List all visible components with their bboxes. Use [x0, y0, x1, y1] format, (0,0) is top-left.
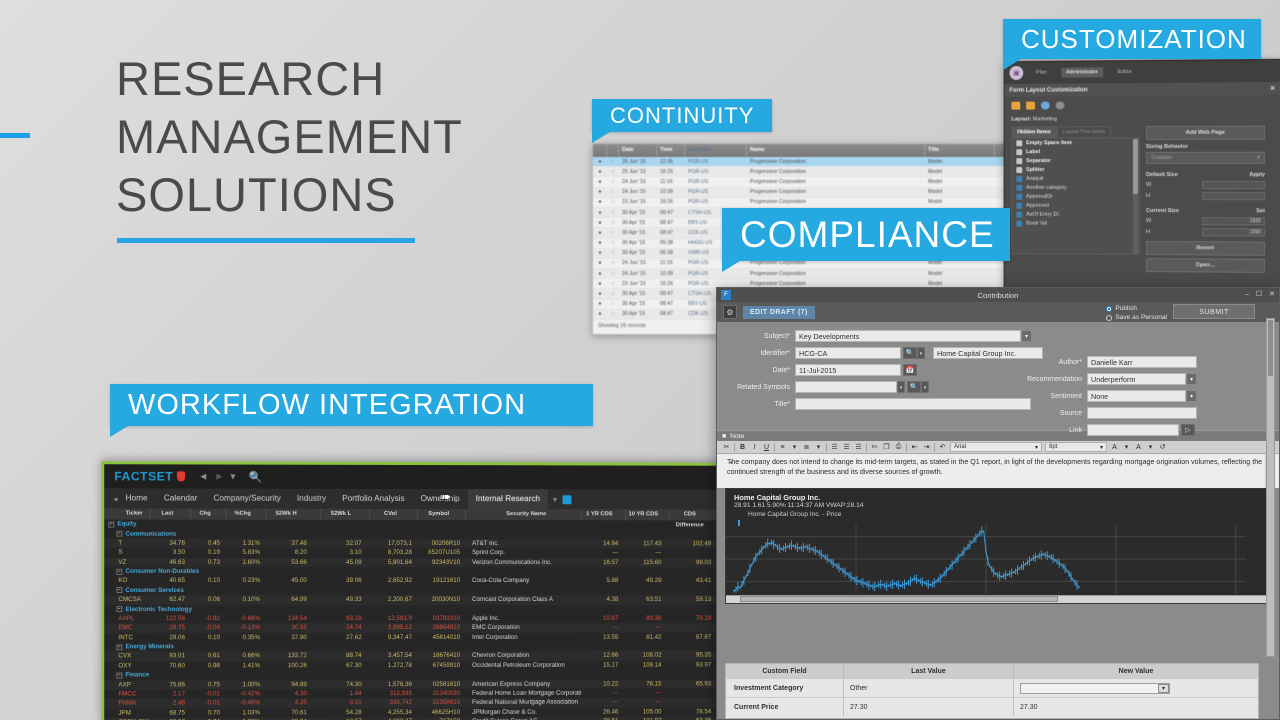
row-star-icon[interactable]: ☆	[607, 199, 619, 205]
table-row[interactable]: Investment Category Other ▾	[726, 678, 1258, 697]
row-star-icon[interactable]: ☆	[607, 250, 619, 256]
banner-continuity: CONTINUITY	[592, 99, 772, 132]
sizing-behavior-select[interactable]: Scalable ▾	[1146, 152, 1265, 164]
row-flag-icon[interactable]: ●	[593, 260, 607, 266]
row-flag-icon[interactable]: ●	[593, 271, 607, 277]
publish-options[interactable]: Publish Save as Personal	[1106, 304, 1167, 322]
table-row[interactable]: Current Price 27.30 27.30	[726, 697, 1258, 716]
cell-10yr-cds: ---	[626, 698, 669, 707]
cell-cds-difference: 102.49	[669, 539, 721, 548]
identifier-search-icon[interactable]: 🔍	[903, 347, 917, 359]
table-row[interactable]: ●☆25 Jun '1516:25PGR-USProgressive Corpo…	[593, 167, 1009, 177]
cell-52wk-low: 54.28	[321, 708, 370, 718]
cell-symbol: 46625H10	[418, 708, 466, 717]
row-flag-icon[interactable]: ●	[593, 169, 607, 175]
cell-symbol: 85207U105	[418, 548, 466, 557]
sentiment-label: Sentiment	[1005, 393, 1087, 400]
sector-group-label: Communications	[125, 530, 176, 537]
back-icon[interactable]: ◄	[198, 471, 208, 482]
default-height-field[interactable]	[1202, 192, 1265, 200]
cell-ticker: S	[104, 548, 151, 557]
font-family-select[interactable]: Arial ▾	[950, 442, 1042, 452]
cell-chg: 0.61	[191, 652, 226, 661]
paste-icon[interactable]: ⎙	[894, 443, 903, 451]
column-header-symbol[interactable]: Symbol	[418, 509, 466, 520]
cell-cds-difference: 65.93	[669, 679, 721, 688]
tab-hidden-items[interactable]: Hidden Items	[1011, 126, 1056, 137]
related-symbols-caret-icon-2[interactable]: ▾	[921, 381, 929, 393]
highlight-color-icon[interactable]: A	[1134, 444, 1143, 451]
undo-icon[interactable]: ↶	[938, 443, 947, 451]
row-flag-icon[interactable]: ●	[593, 189, 607, 195]
column-header-chg[interactable]: Chg	[191, 509, 226, 520]
list-item[interactable]: Label	[1012, 147, 1139, 156]
banner-tail	[110, 426, 128, 437]
column-header-name[interactable]: Name	[747, 144, 925, 157]
identifier-caret-icon[interactable]: ▾	[917, 347, 925, 359]
row-flag-icon[interactable]: ●	[593, 179, 607, 185]
cell-chg: -0.04	[191, 623, 226, 632]
custom-fields-table[interactable]: Custom Field Last Value New Value Invest…	[725, 663, 1259, 719]
publish-radio[interactable]	[1106, 306, 1112, 312]
recommendation-dropdown-icon[interactable]: ▾	[1186, 373, 1197, 385]
cell-pct-chg: 0.66%	[226, 652, 266, 661]
app-tab-editor[interactable]: Editor	[1113, 67, 1137, 77]
custom-field-new-value-cell[interactable]: ▾	[1014, 679, 1258, 697]
cell-security-name: EMC Corporation	[466, 623, 581, 632]
font-color-icon[interactable]: A	[1110, 444, 1119, 451]
banner-tail	[1003, 59, 1021, 70]
note-section-label: Note	[730, 433, 744, 440]
row-star-icon[interactable]: ☆	[607, 271, 619, 277]
hidden-items-scrollbar[interactable]	[1133, 139, 1138, 255]
row-flag-icon[interactable]: ●	[593, 199, 607, 205]
minimize-icon[interactable]: –	[1245, 288, 1249, 302]
cell-ticker: AXP	[104, 680, 151, 690]
chevron-down-icon[interactable]: ▾	[1158, 684, 1169, 693]
row-flag-icon[interactable]: ●	[593, 281, 607, 287]
cell-symbol: 67459910	[418, 661, 466, 670]
row-flag-icon[interactable]: ●	[593, 240, 607, 246]
cell-title: Model	[925, 199, 995, 205]
item-type-icon	[1016, 220, 1022, 226]
list-item[interactable]: Approved	[1012, 201, 1139, 210]
row-flag-icon[interactable]: ●	[593, 291, 607, 297]
apply-button[interactable]: Apply	[1249, 172, 1265, 178]
list-item[interactable]: Analyst	[1012, 174, 1139, 183]
font-color-dropdown-icon[interactable]: ▾	[1122, 443, 1131, 451]
add-web-page-button[interactable]: Add Web Page	[1146, 126, 1265, 140]
cell-pct-chg: -0.42%	[226, 689, 266, 698]
contribution-vertical-scrollbar[interactable]	[1266, 318, 1275, 657]
list-item-label: Separator	[1026, 158, 1051, 164]
cell-1yr-cds: 14.94	[581, 539, 626, 548]
column-header-cvol[interactable]: CVol	[370, 509, 418, 520]
clear-formatting-icon[interactable]: ↺	[1158, 443, 1167, 451]
numbered-list-dropdown-icon[interactable]: ▾	[814, 443, 823, 451]
edit-draft-button[interactable]: EDIT DRAFT (7)	[743, 306, 815, 319]
cell-title: Model	[925, 281, 995, 287]
sector-group-label: Energy Minerals	[125, 643, 173, 650]
cell-52wk-high: 70.61	[266, 708, 321, 718]
open-folder-icon[interactable]	[1011, 102, 1020, 110]
price-chart-panel[interactable]: Home Capital Group Inc. 28.91 1.61 5.90%…	[725, 488, 1271, 604]
current-width-row: W 1936	[1146, 217, 1265, 225]
row-star-icon[interactable]: ☆	[607, 260, 619, 266]
copy-icon[interactable]: ❐	[882, 443, 891, 451]
column-header-star[interactable]	[607, 144, 619, 157]
column-header-title[interactable]: Title	[925, 144, 995, 157]
list-item[interactable]: Another category	[1012, 183, 1139, 192]
submit-button[interactable]: SUBMIT	[1173, 304, 1255, 319]
collapse-icon[interactable]: −	[116, 531, 122, 537]
cell-time: 08:47	[657, 311, 685, 317]
cell-1yr-cds: 5.88	[581, 576, 626, 585]
list-item-label: Empty Space Item	[1026, 140, 1072, 146]
column-header-time[interactable]: Time	[657, 144, 685, 157]
row-star-icon[interactable]: ☆	[607, 301, 619, 307]
undo-icon[interactable]	[1041, 102, 1050, 110]
default-width-field[interactable]	[1202, 181, 1265, 189]
cell-security-name: Federal Home Loan Mortgage Corporation	[466, 689, 581, 699]
sentiment-select[interactable]: None	[1087, 390, 1186, 402]
bullet-marker: •	[730, 459, 732, 469]
note-editor[interactable]: • The company does not intend to change …	[717, 454, 1279, 488]
row-star-icon[interactable]: ☆	[607, 189, 619, 195]
column-header-cds-difference[interactable]: CDS Difference	[669, 509, 721, 520]
font-size-select[interactable]: 8pt ▾	[1045, 442, 1107, 452]
app-tab-plan[interactable]: Plan	[1031, 68, 1051, 78]
list-item[interactable]: Book Val	[1012, 219, 1139, 228]
row-star-icon[interactable]: ☆	[607, 240, 619, 246]
tab-home[interactable]: Home	[117, 488, 155, 508]
table-row[interactable]: ●☆25 Jun '1512:35PGR-USProgressive Corpo…	[593, 157, 1009, 167]
list-item[interactable]: Empty Space Item	[1012, 138, 1139, 147]
row-star-icon[interactable]: ☆	[607, 311, 619, 317]
hidden-items-container[interactable]: Empty Space ItemLabelSeparatorSplitterAn…	[1012, 138, 1139, 228]
revert-button[interactable]: Revert	[1146, 241, 1265, 256]
column-header-ticker[interactable]: Ticker	[104, 508, 151, 519]
banner-customization: CUSTOMIZATION	[1003, 19, 1261, 59]
row-flag-icon[interactable]: ●	[593, 159, 607, 165]
collapse-icon[interactable]: −	[116, 672, 122, 678]
chevron-down-icon[interactable]: ▾	[230, 471, 235, 482]
table-row[interactable]: ●☆24 Jun '1510:39PGR-USProgressive Corpo…	[593, 269, 1009, 279]
cell-cds-difference: 79.29	[669, 614, 721, 623]
add-tab-icon[interactable]	[563, 495, 572, 504]
customization-app-tabs[interactable]: Plan Administrator Editor	[1031, 67, 1137, 78]
customization-body: Hidden Items Layout Tree Items Empty Spa…	[1005, 125, 1280, 273]
bold-icon[interactable]: B	[738, 444, 747, 451]
contribution-toolbar[interactable]: ⚙ EDIT DRAFT (7) Publish Save as Persona…	[717, 302, 1279, 322]
table-row[interactable]: ●☆24 Jun '1511:16PGR-USProgressive Corpo…	[593, 177, 1009, 187]
row-star-icon[interactable]: ☆	[607, 169, 619, 175]
column-header-1yr-cds[interactable]: 1 YR CDS	[581, 509, 626, 520]
bullet-list-dropdown-icon[interactable]: ▾	[790, 443, 799, 451]
publish-label: Publish	[1115, 304, 1137, 313]
row-flag-icon[interactable]: ●	[593, 311, 607, 317]
author-input[interactable]: Danielle Karr	[1087, 356, 1197, 368]
contribution-window[interactable]: F Contribution – ☐ ✕ ⚙ EDIT DRAFT (7) Pu…	[716, 287, 1280, 720]
recommendation-select[interactable]: Underperform	[1087, 373, 1186, 385]
cell-ticker: CMCSA	[104, 595, 151, 604]
table-row[interactable]: EMC28.75-0.04-0.13%30.9224.743,995,12268…	[104, 623, 721, 633]
row-star-icon[interactable]: ☆	[607, 210, 619, 216]
cell-ticker: JPM	[104, 708, 151, 718]
form-layout-customization-window[interactable]: ▣ Plan Administrator Editor Form Layout …	[1004, 59, 1280, 293]
gear-icon[interactable]: ⚙	[723, 305, 737, 319]
cell-chg: -0.82	[191, 614, 226, 623]
close-icon[interactable]: ✕	[1269, 288, 1275, 302]
column-header-last[interactable]: Last	[151, 509, 191, 520]
publish-radio-row[interactable]: Publish	[1106, 304, 1167, 313]
column-header-identifier[interactable]: Identifier	[685, 144, 747, 157]
column-header-52wk-low[interactable]: 52Wk L	[321, 509, 370, 520]
set-button[interactable]: Set	[1256, 208, 1265, 214]
open-button[interactable]: Open...	[1146, 258, 1265, 273]
row-flag-icon[interactable]: ●	[593, 301, 607, 307]
sizing-behavior-value: Scalable	[1151, 155, 1173, 161]
cell-date: 30 Apr '15	[619, 311, 657, 317]
tab-company-security[interactable]: Company/Security	[205, 489, 288, 509]
cell-date: 30 Apr '15	[619, 220, 657, 226]
cell-chg: -0.01	[191, 699, 226, 709]
current-height-label: H	[1146, 229, 1150, 235]
related-symbols-caret-icon[interactable]: ▾	[897, 381, 905, 393]
table-row[interactable]: VZ46.630.731.60%53.6645.095,901,6492343V…	[104, 557, 721, 567]
hidden-items-list[interactable]: Empty Space ItemLabelSeparatorSplitterAn…	[1011, 137, 1140, 255]
indent-increase-icon[interactable]: ⇥	[922, 443, 931, 451]
column-header-pct-chg[interactable]: %Chg	[226, 509, 266, 520]
indent-decrease-icon[interactable]: ⇤	[910, 443, 919, 451]
collapse-icon[interactable]: −	[108, 521, 114, 527]
hidden-items-panel: Hidden Items Layout Tree Items Empty Spa…	[1011, 126, 1140, 272]
cell-symbol: 45814010	[418, 633, 466, 642]
cell-chg: 0.19	[191, 548, 226, 557]
cut-tool-icon[interactable]: ✂	[722, 443, 731, 451]
collapse-icon[interactable]: −	[116, 587, 122, 593]
related-symbols-search-icon[interactable]: 🔍	[907, 381, 921, 393]
italic-icon[interactable]: I	[750, 444, 759, 451]
list-item[interactable]: Splitter	[1012, 165, 1139, 174]
cell-last: 70.60	[151, 661, 191, 670]
link-input[interactable]	[1087, 424, 1179, 436]
column-header-security-name[interactable]: Security Name	[466, 509, 581, 520]
custom-field-new-value[interactable]: 27.30	[1014, 698, 1258, 716]
list-item[interactable]: Separator	[1012, 156, 1139, 165]
table-row[interactable]: ●☆24 Jun '1510:39PGR-USProgressive Corpo…	[593, 188, 1009, 198]
cell-time: 16:25	[657, 169, 685, 175]
accent-tick-left	[0, 133, 30, 138]
cell-cds-difference: 99.03	[669, 558, 721, 567]
cell-time: 08:47	[657, 301, 685, 307]
cell-ticker: T	[104, 538, 151, 547]
tab-calendar[interactable]: Calendar	[156, 488, 206, 508]
forward-icon[interactable]: ►	[214, 471, 224, 482]
row-star-icon[interactable]: ☆	[607, 159, 619, 165]
cell-cds-difference	[669, 688, 721, 697]
save-personal-radio[interactable]	[1106, 315, 1112, 321]
current-height-field[interactable]: 1096	[1202, 228, 1265, 236]
chevron-down-icon: ▾	[1257, 155, 1260, 161]
app-tab-administrator[interactable]: Administrator	[1061, 67, 1102, 77]
sector-group-row[interactable]: −Consumer Services	[104, 586, 721, 595]
row-star-icon[interactable]: ☆	[607, 281, 619, 287]
table-row[interactable]: S3.500.195.83%8.203.108,703,2885207U105S…	[104, 548, 721, 558]
cell-52wk-low: 1.44	[321, 689, 370, 698]
cell-date: 30 Apr '15	[619, 250, 657, 256]
cell-security-name: Federal National Mortgage Association	[466, 698, 581, 708]
cell-time: 11:16	[657, 179, 685, 185]
cell-ticker: FMCC	[104, 690, 151, 700]
item-type-icon	[1016, 158, 1022, 164]
sizing-behavior-label: Sizing Behavior	[1146, 144, 1265, 150]
cell-security-name: AT&T Inc.	[466, 539, 581, 548]
tab-internal-research[interactable]: Internal Research	[468, 489, 548, 509]
table-row[interactable]: INTC29.060.100.35%37.9027.629,347,474581…	[104, 632, 721, 642]
row-flag-icon[interactable]: ●	[593, 210, 607, 216]
custom-field-last-value: 27.30	[844, 698, 1014, 716]
subject-input[interactable]: Key Developments	[795, 330, 1021, 342]
tab-layout-tree-items[interactable]: Layout Tree Items	[1057, 126, 1112, 137]
contribution-form-right[interactable]: Author* Danielle Karr Recommendation Und…	[1005, 356, 1197, 441]
collapse-icon[interactable]: ■	[722, 433, 726, 440]
tab-dropdown-icon[interactable]: ▾	[548, 494, 557, 504]
source-input[interactable]	[1087, 407, 1197, 419]
related-symbols-input[interactable]	[795, 381, 897, 393]
tabs-scroll-left-icon[interactable]: ◂	[108, 493, 117, 503]
subject-dropdown-icon[interactable]: ▾	[1021, 330, 1032, 342]
underline-icon[interactable]: U	[762, 444, 771, 451]
cell-time: 08:47	[657, 210, 685, 216]
cell-title: Model	[925, 169, 995, 175]
redo-icon[interactable]	[1056, 101, 1065, 109]
cell-chg: 0.98	[191, 661, 226, 670]
factset-nav-controls[interactable]: ◄ ► ▾	[198, 471, 235, 482]
cell-security-name: Coca-Cola Company	[466, 576, 581, 585]
align-right-icon[interactable]: ☰	[854, 443, 863, 451]
row-star-icon[interactable]: ☆	[607, 179, 619, 185]
table-row[interactable]: CMCSA62.470.060.10%64.9949.332,200,67200…	[104, 595, 721, 604]
cell-name: Progressive Corporation	[747, 281, 925, 287]
row-star-icon[interactable]: ☆	[607, 220, 619, 226]
factset-terminal-window[interactable]: FACTSET ◄ ► ▾ 🔍 ◂ Home Calendar Company/…	[101, 461, 721, 720]
cell-name: Progressive Corporation	[747, 260, 925, 266]
scissors-icon[interactable]: ✄	[870, 443, 879, 451]
collapse-icon[interactable]: −	[116, 644, 122, 650]
cell-1yr-cds: 16.57	[581, 558, 626, 567]
font-size-value: 8pt	[1049, 444, 1057, 450]
cell-chg: 0.10	[191, 576, 226, 585]
factset-tab-bar[interactable]: ◂ Home Calendar Company/Security Industr…	[104, 488, 721, 509]
cell-name: Progressive Corporation	[747, 159, 925, 165]
list-item[interactable]: AsOf Entry Dt	[1012, 210, 1139, 219]
table-row[interactable]: KO40.650.100.23%45.0039.062,652,92191216…	[104, 576, 721, 586]
row-star-icon[interactable]: ☆	[607, 230, 619, 236]
row-flag-icon[interactable]: ●	[593, 220, 607, 226]
table-row[interactable]: OXY70.600.981.41%100.2667.301,272,786745…	[104, 660, 721, 670]
factset-table-body[interactable]: −Equity−CommunicationsT34.780.451.31%37.…	[104, 520, 721, 720]
sentiment-dropdown-icon[interactable]: ▾	[1186, 390, 1197, 402]
close-icon[interactable]: ✕	[1270, 85, 1275, 92]
related-symbols-label: Related Symbols	[717, 384, 795, 391]
list-item-label: Label	[1026, 149, 1040, 155]
cell-pct-chg: 1.60%	[226, 557, 266, 566]
date-input[interactable]: 11-Jul-2015	[795, 364, 901, 376]
column-header-date[interactable]: Date	[619, 144, 657, 157]
cell-cds-difference: 59.13	[669, 595, 721, 604]
current-width-field[interactable]: 1936	[1202, 217, 1265, 225]
table-row[interactable]: AAPL122.56-0.82-0.66%134.5493.2813,583,9…	[104, 614, 721, 624]
row-star-icon[interactable]: ☆	[607, 291, 619, 297]
cell-cds-difference: 78.54	[669, 707, 721, 716]
tab-industry[interactable]: Industry	[289, 489, 334, 509]
customization-toolbar[interactable]	[1005, 95, 1280, 114]
identifier-input[interactable]: HCG-CA	[795, 347, 901, 359]
column-header-52wk-high[interactable]: 52Wk H	[266, 509, 321, 520]
item-type-icon	[1016, 202, 1022, 208]
cell-1yr-cds: 12.66	[581, 651, 626, 660]
column-header-flag[interactable]	[593, 144, 607, 157]
save-icon[interactable]	[1026, 102, 1035, 110]
calendar-icon[interactable]: 📅	[903, 364, 917, 376]
highlight-color-dropdown-icon[interactable]: ▾	[1146, 443, 1155, 451]
cell-ticker: KO	[104, 576, 151, 585]
list-item[interactable]: ApprovalDt	[1012, 192, 1139, 201]
search-icon[interactable]: 🔍	[249, 470, 263, 483]
custom-field-name: Investment Category	[726, 679, 844, 697]
cell-52wk-low: 24.74	[321, 623, 370, 632]
collapse-icon[interactable]: −	[116, 606, 122, 612]
chart-horizontal-scrollbar[interactable]	[726, 595, 1270, 603]
align-left-icon[interactable]: ☰	[830, 443, 839, 451]
bullet-list-icon[interactable]: ≡	[778, 444, 787, 451]
recommendation-label: Recommendation	[1005, 376, 1087, 383]
note-toolbar[interactable]: ✂ B I U ≡ ▾ ≣ ▾ ☰ ☰ ☰ ✄ ❐ ⎙ ⇤ ⇥ ↶ Arial …	[717, 441, 1279, 454]
link-browse-icon[interactable]: ▷	[1181, 424, 1195, 436]
tab-portfolio-analysis[interactable]: Portfolio Analysis	[334, 489, 412, 509]
table-row[interactable]: T34.780.451.31%37.4832.0717,073,100206R1…	[104, 538, 721, 548]
row-flag-icon[interactable]: ●	[593, 230, 607, 236]
font-family-value: Arial	[954, 444, 966, 450]
table-row[interactable]: ●☆23 Jun '1516:26PGR-USProgressive Corpo…	[593, 198, 1009, 208]
banner-tail	[722, 261, 740, 272]
cell-symbol: 26864810	[418, 623, 466, 632]
save-personal-radio-row[interactable]: Save as Personal	[1106, 313, 1167, 322]
column-header-10yr-cds[interactable]: 10 YR CDS	[626, 509, 669, 520]
cell-symbol: 31340030	[418, 689, 466, 698]
title-input[interactable]	[795, 398, 1031, 410]
cell-date: 30 Apr '15	[619, 210, 657, 216]
sector-group-row[interactable]: −Consumer Non-Durables	[104, 567, 721, 577]
shield-icon	[177, 471, 185, 481]
maximize-icon[interactable]: ☐	[1256, 288, 1262, 302]
cell-52wk-high: 4.30	[266, 689, 321, 699]
numbered-list-icon[interactable]: ≣	[802, 443, 811, 451]
factset-logo-text: FACTSET	[114, 469, 173, 483]
default-size-label: Default Size	[1146, 172, 1178, 178]
window-controls[interactable]: – ☐ ✕	[1245, 288, 1275, 302]
collapse-icon[interactable]: −	[116, 569, 122, 575]
row-flag-icon[interactable]: ●	[593, 250, 607, 256]
table-row[interactable]: CSGN-SW28.070.341.23%28.9418.574,802,477…	[104, 716, 721, 720]
custom-field-name: Current Price	[726, 698, 844, 716]
contribution-form[interactable]: Subject* Key Developments ▾ Identifier* …	[717, 322, 1279, 430]
hidden-items-tabs[interactable]: Hidden Items Layout Tree Items	[1011, 126, 1140, 137]
cell-identifier: PGR-US	[685, 169, 747, 175]
align-center-icon[interactable]: ☰	[842, 443, 851, 451]
sector-group-row[interactable]: −Electronic Technology	[104, 604, 721, 614]
